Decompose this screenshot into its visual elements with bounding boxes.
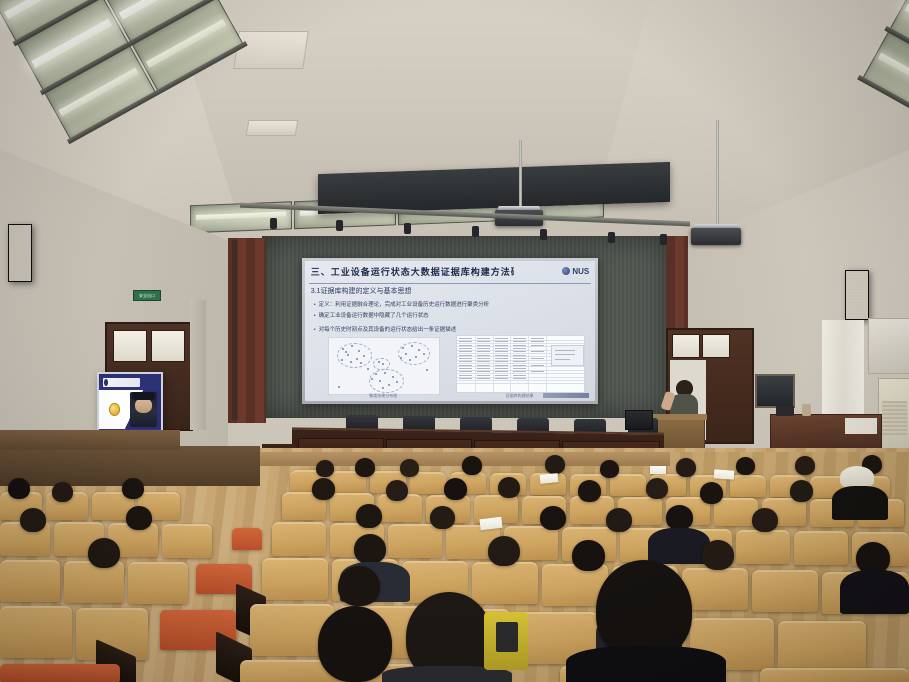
audience-head: [52, 482, 73, 502]
seat[interactable]: [388, 524, 442, 558]
seat[interactable]: [162, 524, 212, 558]
audience-head: [600, 460, 619, 478]
track-spotlight: [336, 220, 343, 231]
wall-shadow: [232, 240, 238, 420]
audience-head: [795, 456, 815, 475]
slide-surface: 三、工业设备运行状态大数据证据库构建方法研究 NUS 3.1证据库构建的定义与基…: [305, 261, 595, 401]
track-spotlight: [660, 234, 667, 245]
right-window: [868, 318, 909, 374]
seat[interactable]: [272, 522, 326, 556]
audience-head: [312, 478, 335, 500]
seat[interactable]: [64, 561, 124, 603]
audience-head: [540, 506, 566, 530]
seat[interactable]: [736, 530, 790, 564]
portrait-face: [135, 398, 152, 413]
seat[interactable]: [752, 570, 818, 612]
seat[interactable]: [760, 668, 909, 682]
audience-head: [488, 536, 520, 566]
audience-head: [545, 455, 565, 474]
door-glass-pane: [672, 334, 700, 358]
wall-mounted-panel: [755, 374, 795, 408]
nus-logo: NUS: [562, 267, 589, 276]
seat[interactable]: [128, 562, 188, 604]
audience-head-foreground: [318, 606, 392, 682]
seat[interactable]: [778, 621, 866, 673]
seat[interactable]: [0, 606, 72, 658]
white-cap: [840, 466, 874, 488]
nus-logo-text: NUS: [572, 267, 589, 276]
audience-head-foreground: [596, 560, 692, 660]
audience-head: [790, 480, 813, 502]
slide-footer-bar: [543, 393, 589, 399]
lecture-hall-photo: 三、工业设备运行状态大数据证据库构建方法研究 NUS 3.1证据库构建的定义与基…: [0, 0, 909, 682]
track-spotlight: [472, 226, 479, 237]
left-wall-speaker: [8, 224, 32, 282]
audience-head: [572, 540, 605, 571]
seat[interactable]: [262, 558, 328, 600]
seat[interactable]: [472, 562, 538, 604]
paper-sheet: [650, 466, 666, 474]
audience-head: [88, 538, 120, 568]
ceiling-vent-2: [246, 120, 299, 136]
audience-head: [606, 508, 632, 532]
ac-grill: [882, 401, 907, 437]
cluster-scatter-figure: [328, 337, 440, 395]
audience-head: [8, 478, 30, 499]
audience-head: [676, 458, 696, 477]
audience-head: [700, 482, 723, 504]
cabinet-item-box: [802, 404, 811, 416]
paper-sheet: [714, 469, 735, 479]
air-conditioner[interactable]: [878, 378, 909, 458]
audience-head: [20, 508, 46, 532]
cabinet-items: [776, 406, 794, 416]
audience-head: [498, 477, 520, 498]
audience-shoulders-foreground: [566, 646, 726, 682]
exit-sign-label: 安全出口: [139, 293, 155, 299]
track-spotlight: [270, 218, 277, 229]
track-spotlight: [404, 223, 411, 234]
right-wall-speaker: [845, 270, 869, 320]
audience-head: [736, 457, 755, 475]
audience-head: [126, 506, 152, 530]
track-spotlight: [608, 232, 615, 243]
seat[interactable]: [0, 560, 60, 602]
audience-head: [356, 504, 382, 528]
audience-shoulders: [832, 486, 888, 520]
audience-head: [386, 480, 408, 501]
audience-head: [578, 480, 601, 502]
front-left-counter: [0, 430, 180, 450]
door-glass-pane: [113, 330, 147, 362]
projection-screen[interactable]: 三、工业设备运行状态大数据证据库构建方法研究 NUS 3.1证据库构建的定义与基…: [302, 258, 598, 404]
track-spotlight: [540, 229, 547, 240]
seat[interactable]: [794, 531, 848, 565]
slide-divider: [309, 283, 590, 284]
audience-head: [444, 478, 467, 500]
audience-head: [400, 459, 419, 477]
scatter-figure-caption: 聚类结果分布图: [328, 393, 438, 399]
wall-left-pillar: [190, 300, 206, 430]
audience-head: [702, 540, 734, 570]
projector-pole-left: [519, 140, 522, 208]
projector-right[interactable]: [691, 228, 741, 245]
seat-cushion: [0, 664, 120, 682]
banner-portrait: [130, 392, 157, 427]
paper-sheet: [540, 473, 559, 484]
seat[interactable]: [682, 568, 748, 610]
backpack-strap: [496, 622, 518, 652]
audience-head: [462, 456, 482, 475]
door-glass-pane: [151, 330, 185, 362]
seat-cushion: [232, 528, 262, 550]
slide-bullet-3: 对每个历史时刻点及其设备的运行状态给出一条证据描述: [314, 325, 456, 333]
stage-monitor: [625, 410, 653, 430]
seat[interactable]: [610, 474, 646, 496]
slide-subtitle: 3.1证据库构建的定义与基本思想: [311, 286, 412, 296]
cabinet-papers: [845, 418, 877, 434]
audience-head: [316, 460, 334, 477]
slide-bullet-2: 确定工业设备运行数据中隐藏了几个运行状态: [314, 311, 429, 319]
audience-head: [122, 478, 144, 499]
door-glass-pane: [702, 334, 730, 358]
exit-sign: 安全出口: [133, 290, 161, 301]
podium-top: [653, 414, 707, 420]
banner-institution-bar: [103, 378, 140, 387]
graduation-cap-icon: [132, 392, 155, 400]
audience-head: [752, 508, 778, 532]
audience-head: [666, 505, 693, 530]
projector-pole-right: [716, 120, 719, 225]
banner-seal-icon: [104, 379, 108, 386]
slide-bullet-1: 定义：利用证据融合理论，完成对工业设备历史运行数据进行聚类分析: [314, 300, 489, 308]
slide-title: 三、工业设备运行状态大数据证据库构建方法研究: [311, 265, 514, 278]
audience-head: [355, 458, 375, 477]
nus-seal-icon: [562, 267, 570, 275]
audience-shoulders: [840, 570, 909, 614]
seat[interactable]: [730, 475, 766, 497]
audience-head: [338, 566, 380, 606]
audience-head: [646, 478, 668, 499]
audience-head: [430, 506, 455, 529]
audience-shoulders: [648, 528, 710, 564]
evidence-table-figure: [456, 335, 586, 393]
audience-head: [354, 534, 386, 564]
